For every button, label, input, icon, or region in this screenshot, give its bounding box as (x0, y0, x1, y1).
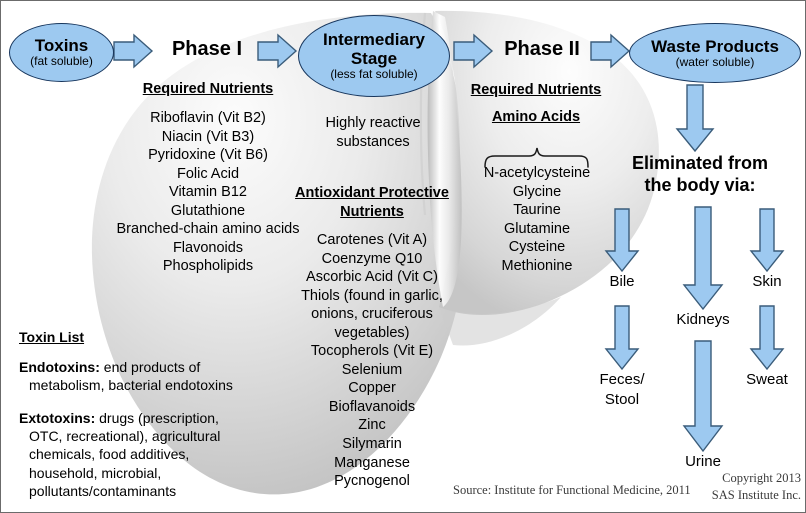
antioxidant-nutrient-list: Carotenes (Vit A)Coenzyme Q10Ascorbic Ac… (283, 231, 461, 491)
antioxidant-item: onions, cruciferous (283, 305, 461, 324)
amino-acid-item: Taurine (467, 201, 607, 220)
detox-pathway-diagram: Toxins (fat soluble) Phase I Required Nu… (0, 0, 806, 513)
toxins-ellipse: Toxins (fat soluble) (9, 23, 114, 82)
antioxidant-item: Carotenes (Vit A) (283, 231, 461, 250)
antioxidant-item: Ascorbic Acid (Vit C) (283, 268, 461, 287)
antioxidant-item: Tocopherols (Vit E) (283, 342, 461, 361)
eliminated-heading-line2: the body via: (605, 175, 795, 196)
amino-acid-item: Glutamine (467, 220, 607, 239)
route-organ-bile: Bile (582, 273, 662, 291)
phase1-nutrient-item: Riboflavin (Vit B2) (101, 109, 315, 128)
eliminated-heading-line1: Eliminated from (605, 153, 795, 174)
phase2-required-nutrients-heading: Required Nutrients (453, 82, 619, 99)
endotoxins-label: Endotoxins: (19, 359, 100, 375)
phase1-nutrient-item: Folic Acid (101, 165, 315, 184)
antioxidant-item: Zinc (283, 416, 461, 435)
antioxidant-item: Coenzyme Q10 (283, 250, 461, 269)
antioxidant-item: Thiols (found in garlic, (283, 287, 461, 306)
intermediary-note-line2: substances (303, 134, 443, 152)
phase1-title: Phase I (159, 38, 255, 61)
antioxidant-item: Manganese (283, 454, 461, 473)
toxins-subtitle: (fat soluble) (30, 55, 93, 68)
route-output-urine: Urine (663, 453, 743, 471)
waste-subtitle: (water soluble) (676, 56, 755, 69)
intermediary-stage-ellipse: Intermediary Stage (less fat soluble) (298, 15, 450, 97)
route-organ-skin: Skin (727, 273, 806, 291)
amino-acids-subheading: Amino Acids (481, 109, 591, 126)
antioxidant-item: Selenium (283, 361, 461, 380)
antioxidant-heading-line2: Nutrients (289, 204, 455, 221)
amino-acid-item: Cysteine (467, 238, 607, 257)
antioxidant-item: Pycnogenol (283, 472, 461, 491)
phase1-nutrient-item: Vitamin B12 (101, 183, 315, 202)
toxins-title: Toxins (35, 36, 89, 55)
antioxidant-item: vegetables) (283, 324, 461, 343)
phase1-nutrient-item: Glutathione (101, 202, 315, 221)
antioxidant-item: Silymarin (283, 435, 461, 454)
toxin-list-heading: Toxin List (19, 328, 219, 346)
intermediary-title-line2: Stage (351, 49, 397, 68)
waste-title: Waste Products (651, 37, 779, 56)
amino-acid-item: Glycine (467, 183, 607, 202)
intermediary-note-line1: Highly reactive (303, 115, 443, 133)
copyright-line2: SAS Institute Inc. (689, 488, 801, 504)
intermediary-subtitle: (less fat soluble) (330, 68, 417, 81)
toxin-list-extotoxins: Extotoxins: drugs (prescription, OTC, re… (19, 409, 247, 500)
phase1-required-nutrients-heading: Required Nutrients (125, 81, 291, 98)
waste-products-ellipse: Waste Products (water soluble) (629, 23, 801, 83)
extotoxins-label: Extotoxins: (19, 410, 95, 426)
amino-acid-item: N-acetylcysteine (467, 164, 607, 183)
copyright-line1: Copyright 2013 (689, 471, 801, 487)
route-output-feces-line2: Stool (582, 391, 662, 409)
antioxidant-item: Copper (283, 379, 461, 398)
phase2-amino-acid-list: N-acetylcysteineGlycineTaurineGlutamineC… (467, 164, 607, 275)
route-output-sweat: Sweat (727, 371, 806, 389)
toxin-list-endotoxins: Endotoxins: end products of metabolism, … (19, 358, 244, 394)
route-organ-kidneys: Kidneys (656, 311, 750, 329)
antioxidant-heading-line1: Antioxidant Protective (289, 185, 455, 202)
phase2-title: Phase II (497, 38, 587, 61)
phase1-nutrient-item: Pyridoxine (Vit B6) (101, 146, 315, 165)
route-output-feces-line1: Feces/ (582, 371, 662, 389)
intermediary-title-line1: Intermediary (323, 30, 425, 49)
phase1-nutrient-item: Niacin (Vit B3) (101, 128, 315, 147)
antioxidant-item: Bioflavanoids (283, 398, 461, 417)
